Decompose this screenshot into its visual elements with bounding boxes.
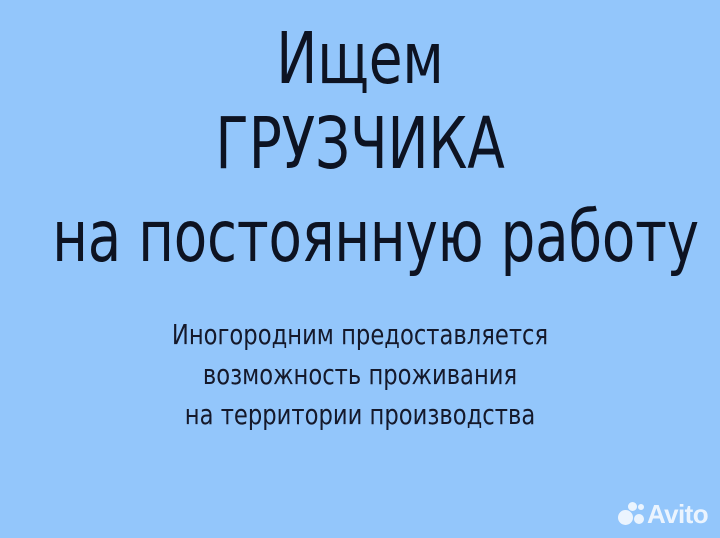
avito-dots-icon bbox=[618, 502, 644, 526]
subtext-line-2: возможность проживания bbox=[36, 355, 684, 395]
headline-line-1: Ищем bbox=[50, 22, 669, 96]
headline-line-2: ГРУЗЧИКА bbox=[50, 107, 669, 181]
subtext-line-3: на территории производства bbox=[36, 395, 684, 435]
avito-watermark: Avito bbox=[618, 498, 708, 530]
ad-poster: Ищем ГРУЗЧИКА на постоянную работу Иного… bbox=[0, 0, 720, 538]
avito-wordmark: Avito bbox=[647, 501, 708, 527]
subtext-line-1: Иногородним предоставляется bbox=[36, 315, 684, 355]
subtext-block: Иногородним предоставляется возможность … bbox=[0, 315, 720, 435]
headline-line-3: на постоянную работу bbox=[52, 200, 668, 274]
